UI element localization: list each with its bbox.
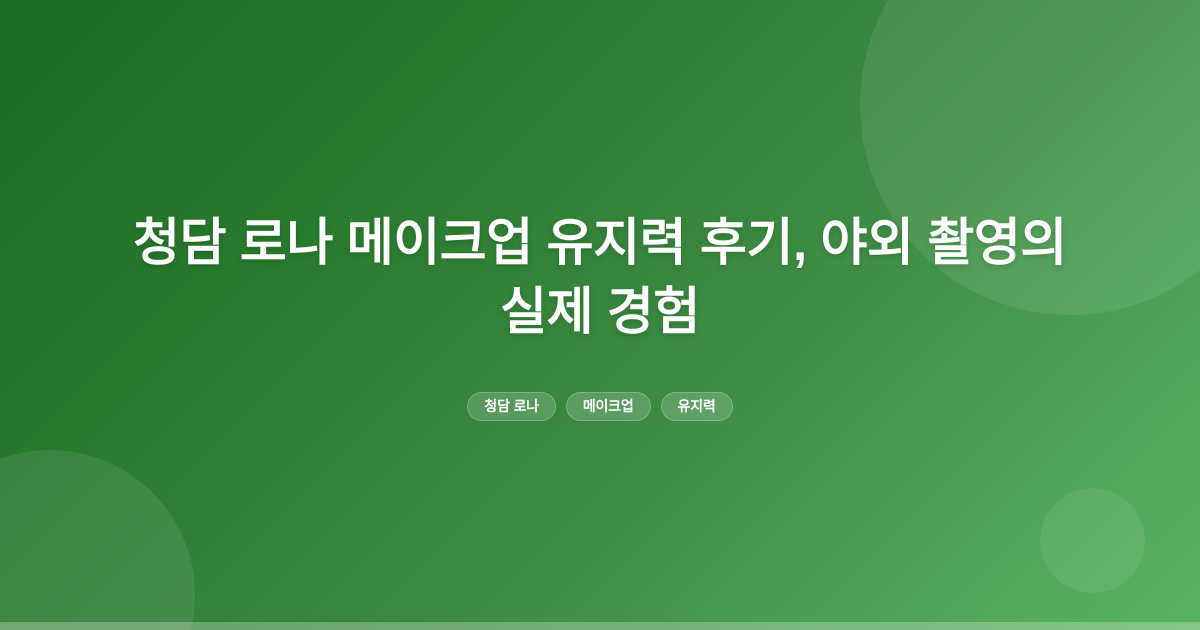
- page-title: 청담 로나 메이크업 유지력 후기, 야외 촬영의 실제 경험: [110, 209, 1090, 346]
- tag-list: 청담 로나 메이크업 유지력: [467, 392, 732, 421]
- page-title-line-2: 실제 경험: [500, 283, 700, 340]
- tag-item-0[interactable]: 청담 로나: [467, 392, 555, 421]
- page-title-line-1: 청담 로나 메이크업 유지력 후기, 야외 촬영의: [133, 214, 1067, 271]
- card-content: 청담 로나 메이크업 유지력 후기, 야외 촬영의 실제 경험 청담 로나 메이…: [0, 0, 1200, 630]
- og-card: 청담 로나 메이크업 유지력 후기, 야외 촬영의 실제 경험 청담 로나 메이…: [0, 0, 1200, 630]
- tag-item-2[interactable]: 유지력: [661, 392, 733, 421]
- tag-item-1[interactable]: 메이크업: [566, 392, 651, 421]
